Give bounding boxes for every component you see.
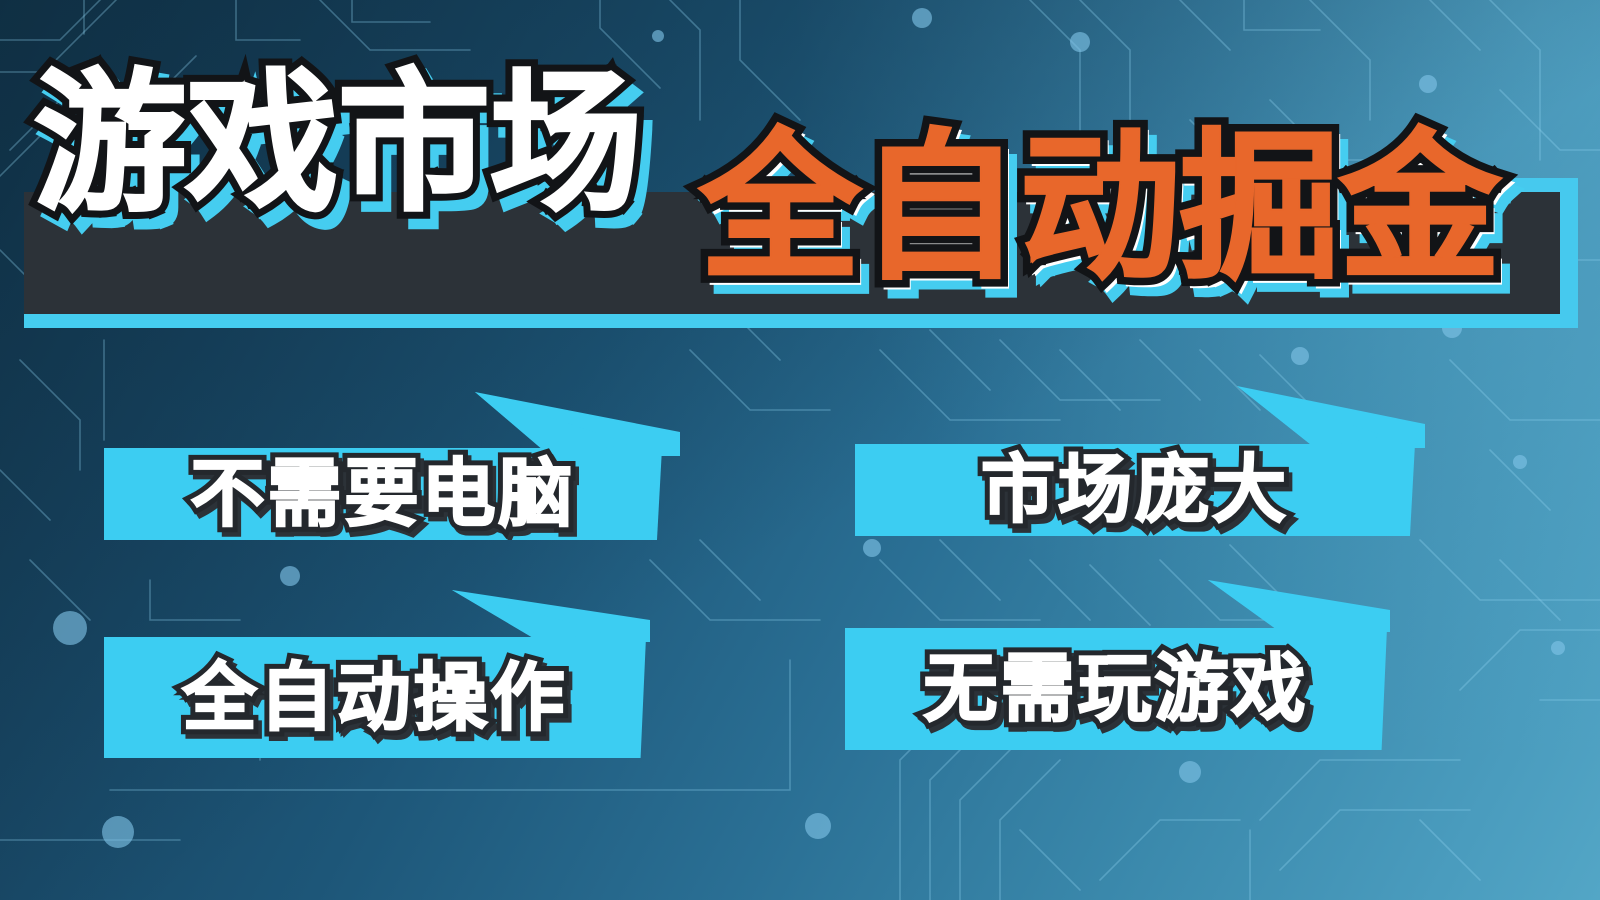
feature-badge-no-computer[interactable]: 不需要电脑 不需要电脑 不需要电脑 — [104, 448, 662, 540]
poster-canvas: 游戏市场 游戏市场 游戏市场 全自动掘金 全自动掘金 全自动掘金 全自动掘金 不… — [0, 0, 1600, 900]
feature-badge-full-auto[interactable]: 全自动操作 全自动操作 全自动操作 — [104, 637, 646, 758]
banner-cyan-underline — [24, 314, 1560, 328]
feature-badge-no-gameplay[interactable]: 无需玩游戏 无需玩游戏 无需玩游戏 — [845, 628, 1387, 750]
swoosh-arrow-icon-4 — [1160, 576, 1390, 632]
headline-line-2-fill: 全自动掘金 — [700, 128, 1500, 288]
feature-badge-label-3: 全自动操作 全自动操作 全自动操作 — [183, 661, 568, 735]
feature-label-4-fill: 无需玩游戏 — [924, 646, 1309, 732]
feature-label-1-fill: 不需要电脑 — [191, 451, 576, 537]
headline-line-1-fill: 游戏市场 — [34, 68, 642, 220]
swoosh-arrow-icon-2 — [1185, 382, 1425, 448]
feature-label-2-fill: 市场庞大 — [981, 447, 1289, 533]
feature-badge-label-1: 不需要电脑 不需要电脑 不需要电脑 — [191, 457, 576, 531]
swoosh-arrow-icon-3 — [390, 586, 650, 642]
feature-badge-label-2: 市场庞大 市场庞大 市场庞大 — [981, 453, 1289, 527]
feature-badge-label-4: 无需玩游戏 无需玩游戏 无需玩游戏 — [924, 652, 1309, 726]
feature-badge-huge-market[interactable]: 市场庞大 市场庞大 市场庞大 — [855, 444, 1415, 536]
feature-label-3-fill: 全自动操作 — [183, 655, 568, 741]
swoosh-arrow-icon-1 — [400, 388, 680, 456]
